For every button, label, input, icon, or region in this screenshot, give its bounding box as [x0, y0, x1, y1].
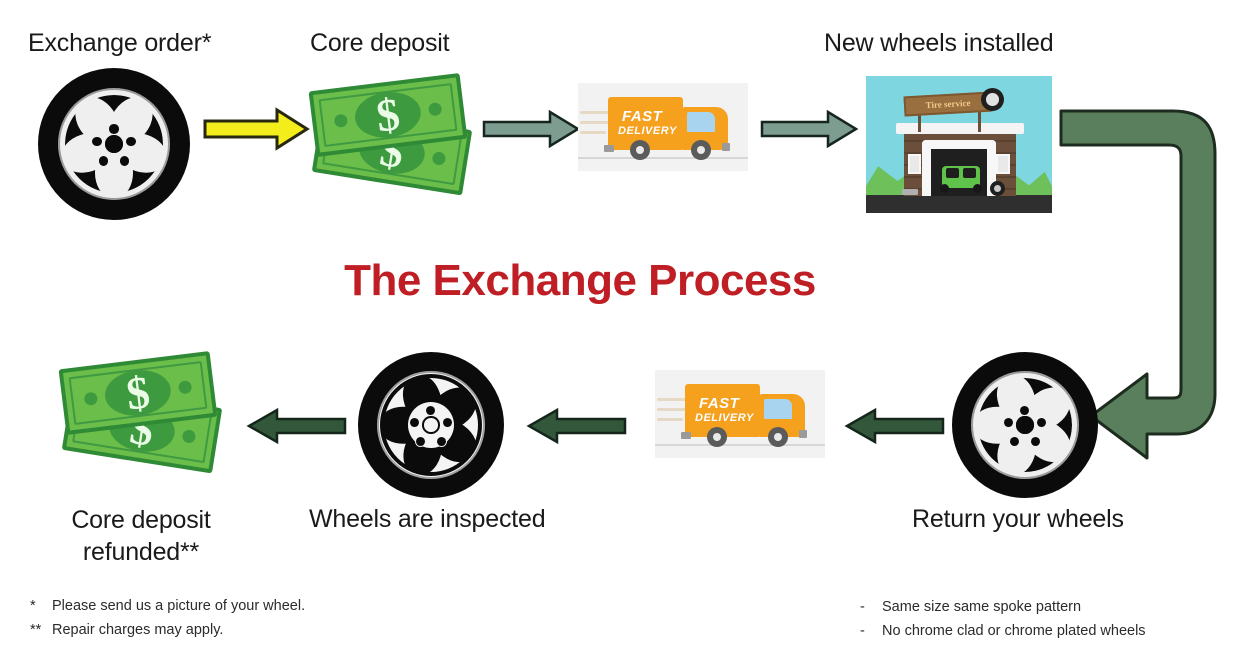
car-tire — [973, 184, 982, 193]
spare-tire — [990, 181, 1005, 196]
footnote-text: Please send us a picture of your wheel. — [52, 598, 305, 614]
cash-money-icon: $ $ — [310, 74, 482, 204]
wheel-center-cap — [105, 135, 123, 153]
footnote-text: No chrome clad or chrome plated wheels — [882, 623, 1146, 639]
truck-wheel — [707, 427, 727, 447]
wheel-lug-nut — [91, 136, 102, 147]
truck-wheel — [691, 140, 711, 160]
black-alloy-wheel-icon — [38, 68, 190, 220]
car-windshield — [946, 168, 959, 178]
truck-text-line2: DELIVERY — [695, 413, 754, 425]
shop-ground — [866, 195, 1052, 213]
truck-wheel — [630, 140, 650, 160]
shop-roof — [896, 123, 1024, 134]
car-windshield — [963, 168, 976, 178]
footnote-left-2: **Repair charges may apply. — [30, 622, 223, 638]
wheel-lug-nut — [409, 417, 420, 428]
truck-road-line — [578, 157, 748, 159]
label-core-deposit: Core deposit — [310, 29, 449, 58]
arrow-return-to-shipping — [845, 408, 945, 444]
truck-bumper — [604, 145, 614, 152]
truck-window — [764, 399, 792, 419]
truck-wheel — [768, 427, 788, 447]
page-title: The Exchange Process — [0, 256, 1160, 306]
speed-line — [580, 121, 610, 124]
arrow-inspect-to-refund — [247, 408, 347, 444]
wheel-center-cap — [422, 416, 440, 434]
speed-line — [580, 131, 606, 134]
label-exchange-order: Exchange order* — [28, 29, 211, 58]
arrow-order-to-deposit — [203, 108, 309, 150]
tire-service-shop-icon: Tire service — [866, 76, 1052, 213]
label-wheels-are-inspected: Wheels are inspected — [309, 505, 545, 534]
truck-window — [687, 112, 715, 132]
fast-delivery-truck-icon: FAST DELIVERY — [578, 83, 748, 171]
truck-bumper — [722, 143, 730, 151]
label-line-1: Core deposit — [71, 506, 210, 534]
wheel-lug-nut — [442, 417, 453, 428]
wheel-lug-nut — [1003, 417, 1014, 428]
sign-tire-icon — [981, 88, 1004, 111]
footnote-marker: ** — [30, 622, 52, 638]
wheel-lug-nut — [1036, 417, 1047, 428]
wheel-lug-nut — [125, 136, 136, 147]
shop-window-left — [908, 154, 921, 174]
truck-text-line2: DELIVERY — [618, 126, 677, 138]
truck-bumper — [681, 432, 691, 439]
silver-alloy-wheel-icon — [358, 352, 504, 498]
truck-text-line1: FAST — [699, 396, 739, 412]
toolbox — [902, 189, 918, 195]
exchange-process-diagram: The Exchange Process Exchange order* Cor… — [0, 0, 1250, 666]
label-return-your-wheels: Return your wheels — [912, 505, 1124, 534]
black-alloy-wheel-icon — [952, 352, 1098, 498]
truck-road-line — [655, 444, 825, 446]
footnote-marker: - — [860, 623, 882, 639]
label-new-wheels-installed: New wheels installed — [824, 29, 1053, 58]
arrow-shipping-to-inspect — [527, 408, 627, 444]
speed-line — [657, 418, 683, 421]
label-core-deposit-refunded: Core deposit refunded** — [36, 505, 246, 569]
arrow-shipping-to-install — [760, 110, 858, 148]
shop-window-right — [996, 154, 1010, 174]
footnote-text: Same size same spoke pattern — [882, 599, 1081, 615]
truck-text-line1: FAST — [622, 109, 662, 125]
sign-post — [978, 112, 981, 132]
speed-line — [657, 408, 687, 411]
footnote-text: Repair charges may apply. — [52, 622, 223, 638]
wheel-lug-nut — [108, 123, 119, 134]
wheel-lug-nut — [98, 155, 109, 166]
wheel-center-cap — [1016, 416, 1034, 434]
arrow-deposit-to-shipping — [482, 110, 580, 148]
footnote-right-1: -Same size same spoke pattern — [860, 599, 1081, 615]
wheel-lug-nut — [119, 155, 130, 166]
footnote-marker: * — [30, 598, 52, 614]
truck-bumper — [799, 430, 807, 438]
cash-money-icon: $ $ — [60, 350, 232, 480]
label-line-2: refunded** — [83, 538, 199, 566]
footnote-right-2: -No chrome clad or chrome plated wheels — [860, 623, 1146, 639]
wheel-lug-nut — [1030, 436, 1041, 447]
car-tire — [940, 184, 949, 193]
footnote-marker: - — [860, 599, 882, 615]
wheel-lug-nut — [436, 436, 447, 447]
footnote-left-1: *Please send us a picture of your wheel. — [30, 598, 305, 614]
fast-delivery-truck-icon: FAST DELIVERY — [655, 370, 825, 458]
